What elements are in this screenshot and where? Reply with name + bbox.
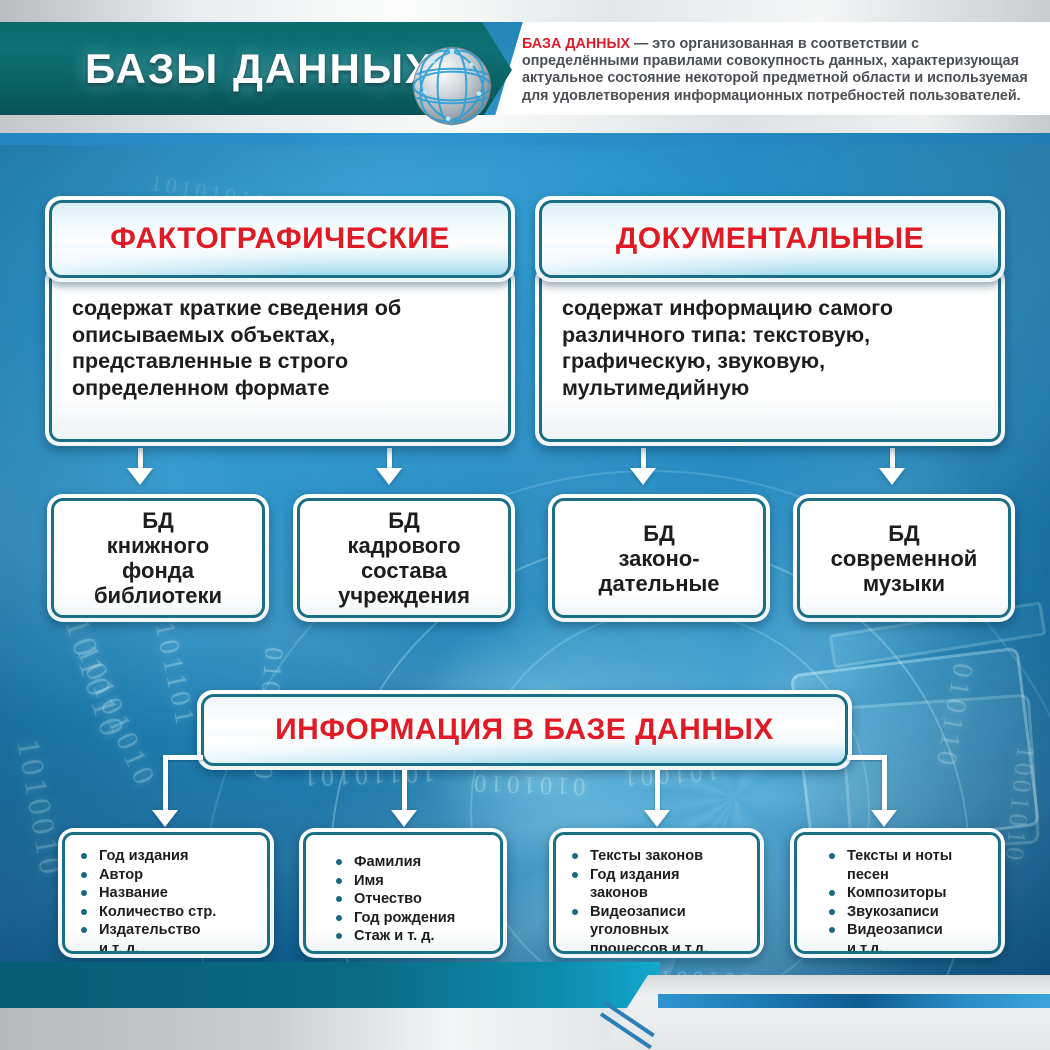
list-item-label: Видеозаписи: [847, 922, 943, 938]
list-item-label: Фамилия: [354, 854, 421, 870]
list-item-label: Год рождения: [354, 910, 455, 926]
field-list-box-legislative[interactable]: Тексты законов Год издания законов Видео…: [549, 828, 764, 958]
list-item-label: Композиторы: [847, 885, 946, 901]
arrow-head-db-4: [879, 468, 905, 485]
poster-canvas: 010101010 10101010 0101101 1010010 01001…: [0, 0, 1050, 1050]
list-item-label: Издательство: [99, 922, 201, 938]
bullet-dot: [829, 909, 835, 915]
connector-line-db-3: [641, 448, 646, 470]
bullet-dot: [81, 853, 87, 859]
bullet-dot: [81, 927, 87, 933]
db-box-label: БД кадрового состава учреждения: [338, 508, 470, 608]
bullet-dot: [81, 872, 87, 878]
poster-header: БАЗЫ ДАННЫХ: [0, 0, 1050, 143]
list-item-label: песен: [847, 867, 889, 883]
bullet-dot: [336, 896, 342, 902]
connector-v-fields-1: [163, 755, 168, 812]
middle-banner[interactable]: ИНФОРМАЦИЯ В БАЗЕ ДАННЫХ: [197, 690, 852, 770]
db-box-label: БД законо- дательные: [598, 521, 719, 596]
list-item-label: уголовных: [590, 922, 669, 938]
list-item: Отчество: [334, 890, 455, 909]
list-item: Видеозаписи: [570, 903, 708, 922]
definition-text: БАЗА ДАННЫХ — это организованная в соотв…: [522, 36, 1034, 105]
db-box-legislative[interactable]: БД законо- дательные: [548, 494, 770, 622]
list-item: Издательство: [79, 921, 216, 940]
db-box-library[interactable]: БД книжного фонда библиотеки: [47, 494, 269, 622]
list-item-label: Количество стр.: [99, 904, 216, 920]
bullet-dot: [336, 859, 342, 865]
bullet-dot: [829, 927, 835, 933]
list-item-label: Год издания: [590, 867, 680, 883]
list-item: Год рождения: [334, 909, 455, 928]
category-card-documentary[interactable]: содержат информацию самого различного ти…: [535, 196, 1005, 448]
bullet-dot: [572, 853, 578, 859]
bullet-dot: [81, 909, 87, 915]
list-item: Стаж и т. д.: [334, 927, 455, 946]
list-item-label: Автор: [99, 867, 143, 883]
globe-network-icon: [404, 38, 500, 134]
list-item: Фамилия: [334, 853, 455, 872]
list-item-label: Звукозаписи: [847, 904, 939, 920]
footer-silver-right-band: [600, 975, 1050, 1050]
category-description: содержат краткие сведения об описываемых…: [72, 295, 494, 401]
list-item-label: Отчество: [354, 891, 422, 907]
list-item-label: и т.д.: [847, 941, 883, 954]
list-item: процессов и т.д.: [570, 940, 708, 954]
list-item-label: Год издания: [99, 848, 189, 864]
footer-teal-band: [0, 962, 660, 1014]
arrow-head-fields-2: [391, 810, 417, 827]
list-item-label: процессов и т.д.: [590, 941, 708, 954]
db-box-music[interactable]: БД современной музыки: [793, 494, 1015, 622]
middle-banner-label: ИНФОРМАЦИЯ В БАЗЕ ДАННЫХ: [275, 713, 774, 747]
list-item-label: Название: [99, 885, 168, 901]
connector-h-fields-right: [847, 755, 887, 760]
definition-keyword: БАЗА ДАННЫХ: [522, 36, 630, 52]
list-item: Видеозаписи: [827, 921, 952, 940]
page-title: БАЗЫ ДАННЫХ: [60, 34, 460, 104]
list-item: Название: [79, 884, 216, 903]
category-header-factographic[interactable]: ФАКТОГРАФИЧЕСКИЕ: [45, 196, 515, 282]
bullet-dot: [336, 933, 342, 939]
category-label: ДОКУМЕНТАЛЬНЫЕ: [616, 222, 924, 256]
list-item: Имя: [334, 872, 455, 891]
field-list: Год издания Автор Название Количество ст…: [79, 847, 216, 954]
category-card-factographic[interactable]: содержат краткие сведения об описываемых…: [45, 196, 515, 448]
db-box-label: БД книжного фонда библиотеки: [94, 508, 222, 608]
connector-line-db-4: [890, 448, 895, 470]
header-silver-bottom-band: [0, 115, 1050, 135]
list-item: законов: [570, 884, 708, 903]
category-label: ФАКТОГРАФИЧЕСКИЕ: [110, 222, 450, 256]
connector-line-db-1: [138, 448, 143, 470]
list-item: Количество стр.: [79, 903, 216, 922]
list-item: Год издания: [570, 866, 708, 885]
list-item: песен: [827, 866, 952, 885]
category-header-documentary[interactable]: ДОКУМЕНТАЛЬНЫЕ: [535, 196, 1005, 282]
arrow-head-db-2: [376, 468, 402, 485]
db-box-personnel[interactable]: БД кадрового состава учреждения: [293, 494, 515, 622]
connector-h-fields-left: [163, 755, 203, 760]
header-blue-bottom-band: [0, 133, 1050, 145]
field-list: Тексты и ноты песен Композиторы Звукозап…: [827, 847, 952, 954]
list-item-label: Тексты и ноты: [847, 848, 952, 864]
arrow-head-db-3: [630, 468, 656, 485]
footer-silver-left-band: [0, 1008, 660, 1050]
connector-line-db-2: [387, 448, 392, 470]
field-list-box-music[interactable]: Тексты и ноты песен Композиторы Звукозап…: [790, 828, 1005, 958]
category-body-documentary: содержат информацию самого различного ти…: [535, 266, 1005, 446]
connector-v-fields-4: [882, 755, 887, 812]
field-list: Тексты законов Год издания законов Видео…: [570, 847, 708, 954]
field-list-box-personnel[interactable]: Фамилия Имя Отчество Год рождения Стаж и…: [299, 828, 507, 958]
db-box-label: БД современной музыки: [831, 521, 978, 596]
list-item: Тексты законов: [570, 847, 708, 866]
arrow-head-db-1: [127, 468, 153, 485]
list-item: и т. д.: [79, 940, 216, 954]
list-item-label: законов: [590, 885, 648, 901]
arrow-head-fields-3: [644, 810, 670, 827]
list-item: и т.д.: [827, 940, 952, 954]
list-item: Автор: [79, 866, 216, 885]
bullet-dot: [336, 915, 342, 921]
list-item-label: и т. д.: [99, 941, 139, 954]
bullet-dot: [829, 890, 835, 896]
bullet-dot: [572, 872, 578, 878]
connector-v-fields-3: [655, 770, 660, 812]
list-item: Год издания: [79, 847, 216, 866]
field-list: Фамилия Имя Отчество Год рождения Стаж и…: [334, 853, 455, 946]
footer-blue-stripe: [658, 994, 1050, 1008]
arrow-head-fields-1: [152, 810, 178, 827]
list-item-label: Имя: [354, 873, 384, 889]
list-item: Звукозаписи: [827, 903, 952, 922]
category-description: содержат информацию самого различного ти…: [562, 295, 984, 401]
list-item-label: Стаж и т. д.: [354, 928, 435, 944]
list-item-label: Видеозаписи: [590, 904, 686, 920]
category-body-factographic: содержат краткие сведения об описываемых…: [45, 266, 515, 446]
list-item: уголовных: [570, 921, 708, 940]
bullet-dot: [336, 878, 342, 884]
field-list-box-library[interactable]: Год издания Автор Название Количество ст…: [58, 828, 274, 958]
header-silver-top-band: [0, 0, 1050, 22]
bullet-dot: [572, 909, 578, 915]
list-item-label: Тексты законов: [590, 848, 703, 864]
list-item: Композиторы: [827, 884, 952, 903]
connector-v-fields-2: [402, 770, 407, 812]
bullet-dot: [829, 853, 835, 859]
arrow-head-fields-4: [871, 810, 897, 827]
bullet-dot: [81, 890, 87, 896]
list-item: Тексты и ноты: [827, 847, 952, 866]
